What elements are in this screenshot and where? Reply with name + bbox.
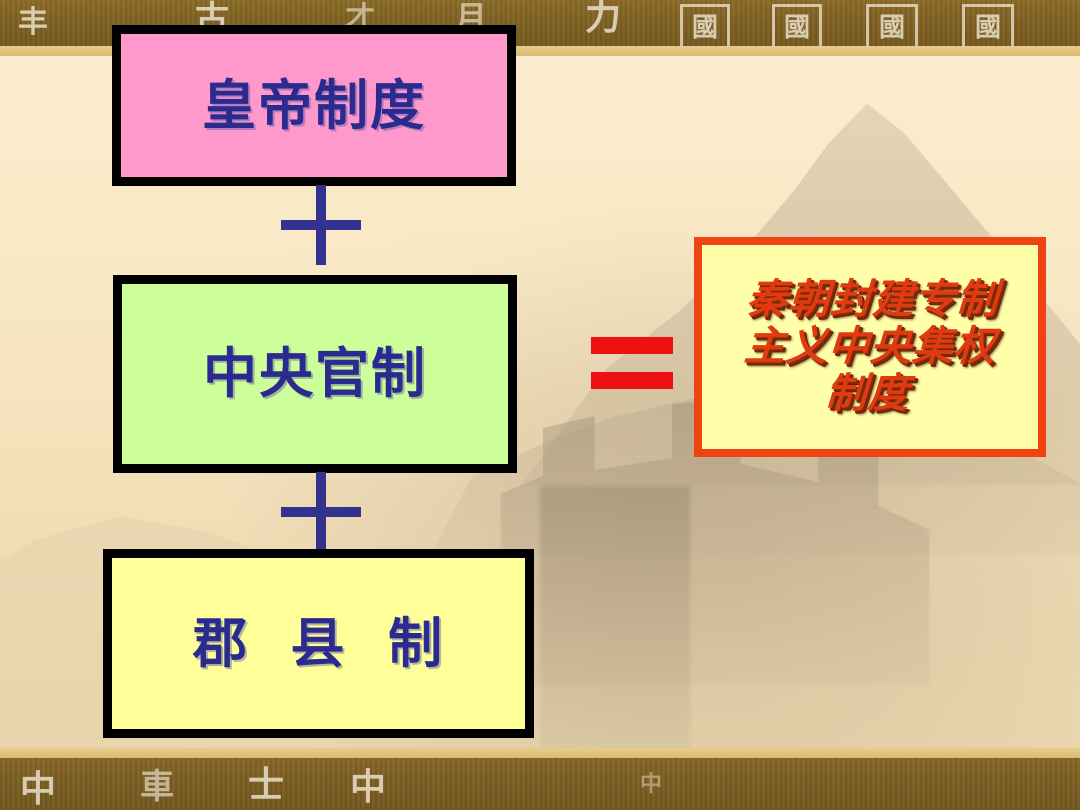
result-label: 秦朝封建专制 主义中央集权 制度 bbox=[740, 276, 999, 417]
plus-icon bbox=[281, 472, 361, 552]
plus-icon-vertical-bar bbox=[316, 472, 326, 552]
plus-icon-vertical-bar bbox=[316, 185, 326, 265]
script-glyph: 車 bbox=[140, 770, 174, 804]
script-glyph: 丰 bbox=[18, 8, 48, 38]
concept-box-commandery-county-system[interactable]: 郡 县 制 bbox=[103, 549, 534, 738]
concept-box-central-official-system[interactable]: 中央官制 bbox=[113, 275, 517, 473]
band-rule bbox=[0, 748, 1080, 758]
plus-icon bbox=[281, 185, 361, 265]
script-glyph-seal: 國 bbox=[866, 4, 918, 52]
script-glyph: 中 bbox=[20, 772, 56, 808]
script-glyph-seal: 國 bbox=[680, 4, 730, 52]
script-glyph-seal: 國 bbox=[772, 4, 822, 52]
script-glyph: 士 bbox=[248, 768, 284, 804]
slide-canvas: 丰 古 才 月 力 國 國 國 國 中 車 士 中 中 皇帝制度 中央官制 郡 … bbox=[0, 0, 1080, 810]
equals-icon bbox=[591, 337, 673, 389]
bottom-script-band: 中 車 士 中 中 bbox=[0, 748, 1080, 810]
concept-label: 中央官制 bbox=[203, 347, 427, 401]
result-line: 秦朝封建专制 bbox=[745, 276, 999, 323]
result-line: 主义中央集权 bbox=[743, 323, 997, 370]
concept-label: 郡 县 制 bbox=[193, 617, 444, 671]
script-glyph: 力 bbox=[585, 0, 621, 36]
equals-icon-bottom-bar bbox=[591, 372, 673, 389]
concept-box-emperor-system[interactable]: 皇帝制度 bbox=[112, 25, 516, 186]
script-glyph-seal: 國 bbox=[962, 4, 1014, 52]
script-glyph: 中 bbox=[350, 770, 386, 806]
equals-icon-top-bar bbox=[591, 337, 673, 354]
result-line: 制度 bbox=[740, 371, 994, 418]
result-box-qin-centralized-system[interactable]: 秦朝封建专制 主义中央集权 制度 bbox=[694, 237, 1046, 457]
script-glyph: 中 bbox=[640, 774, 662, 796]
concept-label: 皇帝制度 bbox=[202, 79, 426, 133]
